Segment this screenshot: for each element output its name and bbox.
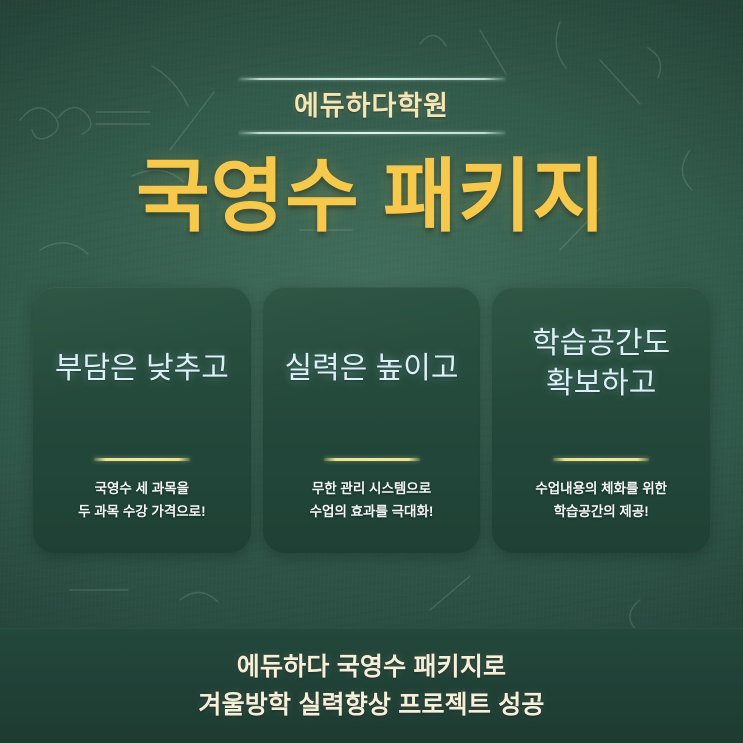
feature-card-2: 실력은 높이고 무한 관리 시스템으로 수업의 효과를 극대화! bbox=[263, 287, 481, 553]
header-block: 에듀하다학원 bbox=[0, 78, 743, 134]
feature-card-1: 부담은 낮추고 국영수 세 과목을 두 과목 수강 가격으로! bbox=[33, 287, 251, 553]
feature-card-3-heading: 학습공간도 확보하고 bbox=[532, 324, 670, 403]
page-title: 국영수 패키지 bbox=[0, 155, 743, 239]
feature-card-3-subtext: 수업내용의 체화를 위한 학습공간의 제공! bbox=[535, 461, 667, 553]
feature-card-2-subtext: 무한 관리 시스템으로 수업의 효과를 극대화! bbox=[310, 461, 434, 553]
feature-card-1-subtext: 국영수 세 과목을 두 과목 수강 가격으로! bbox=[78, 461, 206, 553]
brand-name: 에듀하다학원 bbox=[0, 80, 743, 132]
footer-band: 에듀하다 국영수 패키지로 겨울방학 실력향상 프로젝트 성공 bbox=[0, 628, 743, 743]
feature-card-3: 학습공간도 확보하고 수업내용의 체화를 위한 학습공간의 제공! bbox=[492, 287, 710, 553]
footer-text: 에듀하다 국영수 패키지로 겨울방학 실력향상 프로젝트 성공 bbox=[198, 648, 544, 724]
feature-card-1-heading: 부담은 낮추고 bbox=[55, 349, 229, 389]
feature-card-2-heading: 실력은 높이고 bbox=[285, 349, 459, 389]
chalk-rule-bottom-icon bbox=[239, 132, 505, 134]
promo-poster: 에듀하다학원 국영수 패키지 부담은 낮추고 국영수 세 과목을 두 과목 수강… bbox=[0, 0, 743, 743]
feature-cards-row: 부담은 낮추고 국영수 세 과목을 두 과목 수강 가격으로! 실력은 높이고 … bbox=[33, 287, 710, 553]
